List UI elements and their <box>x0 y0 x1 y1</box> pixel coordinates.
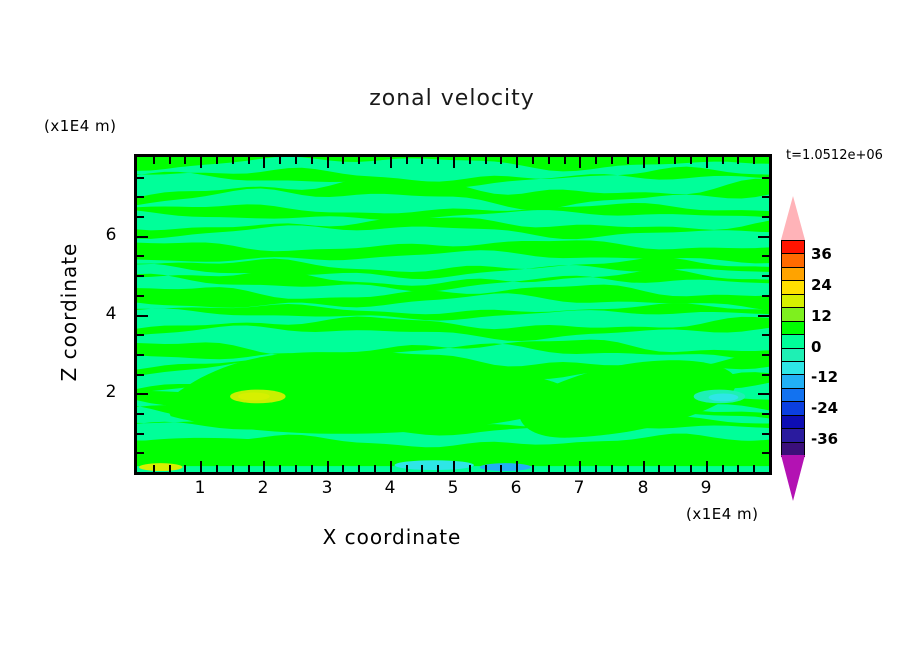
x-tick-label: 4 <box>370 478 410 498</box>
x-tick-label: 2 <box>243 478 283 498</box>
colorbar: 3624120-12-24-36 <box>781 240 805 455</box>
time-annotation: t=1.0512e+06 <box>786 148 883 163</box>
x-tick-label: 6 <box>496 478 536 498</box>
contour-field <box>137 157 769 472</box>
colorbar-tick-label: 0 <box>811 338 821 356</box>
x-tick-label: 1 <box>180 478 220 498</box>
x-tick-label: 9 <box>686 478 726 498</box>
y-tick-label: 6 <box>100 225 122 245</box>
y-axis-unit-label: (x1E4 m) <box>44 117 117 135</box>
plot-area <box>134 154 772 475</box>
x-axis-title: X coordinate <box>0 525 784 549</box>
x-tick-label: 3 <box>307 478 347 498</box>
page-title: zonal velocity <box>0 86 904 111</box>
colorbar-over-arrow <box>781 196 805 240</box>
x-tick-label: 7 <box>559 478 599 498</box>
y-tick-label: 2 <box>100 382 122 402</box>
colorbar-tick-label: -24 <box>811 399 838 417</box>
x-axis-unit-label: (x1E4 m) <box>686 505 759 523</box>
colorbar-under-arrow <box>781 455 805 501</box>
y-tick-label: 4 <box>100 304 122 324</box>
colorbar-tick-label: 12 <box>811 307 832 325</box>
y-axis-title: Z coordinate <box>57 222 81 402</box>
x-tick-label: 8 <box>623 478 663 498</box>
colorbar-tick-label: -12 <box>811 368 838 386</box>
colorbar-tick-label: -36 <box>811 430 838 448</box>
colorbar-band <box>781 442 805 457</box>
colorbar-tick-label: 36 <box>811 245 832 263</box>
x-tick-label: 5 <box>433 478 473 498</box>
colorbar-tick-label: 24 <box>811 276 832 294</box>
